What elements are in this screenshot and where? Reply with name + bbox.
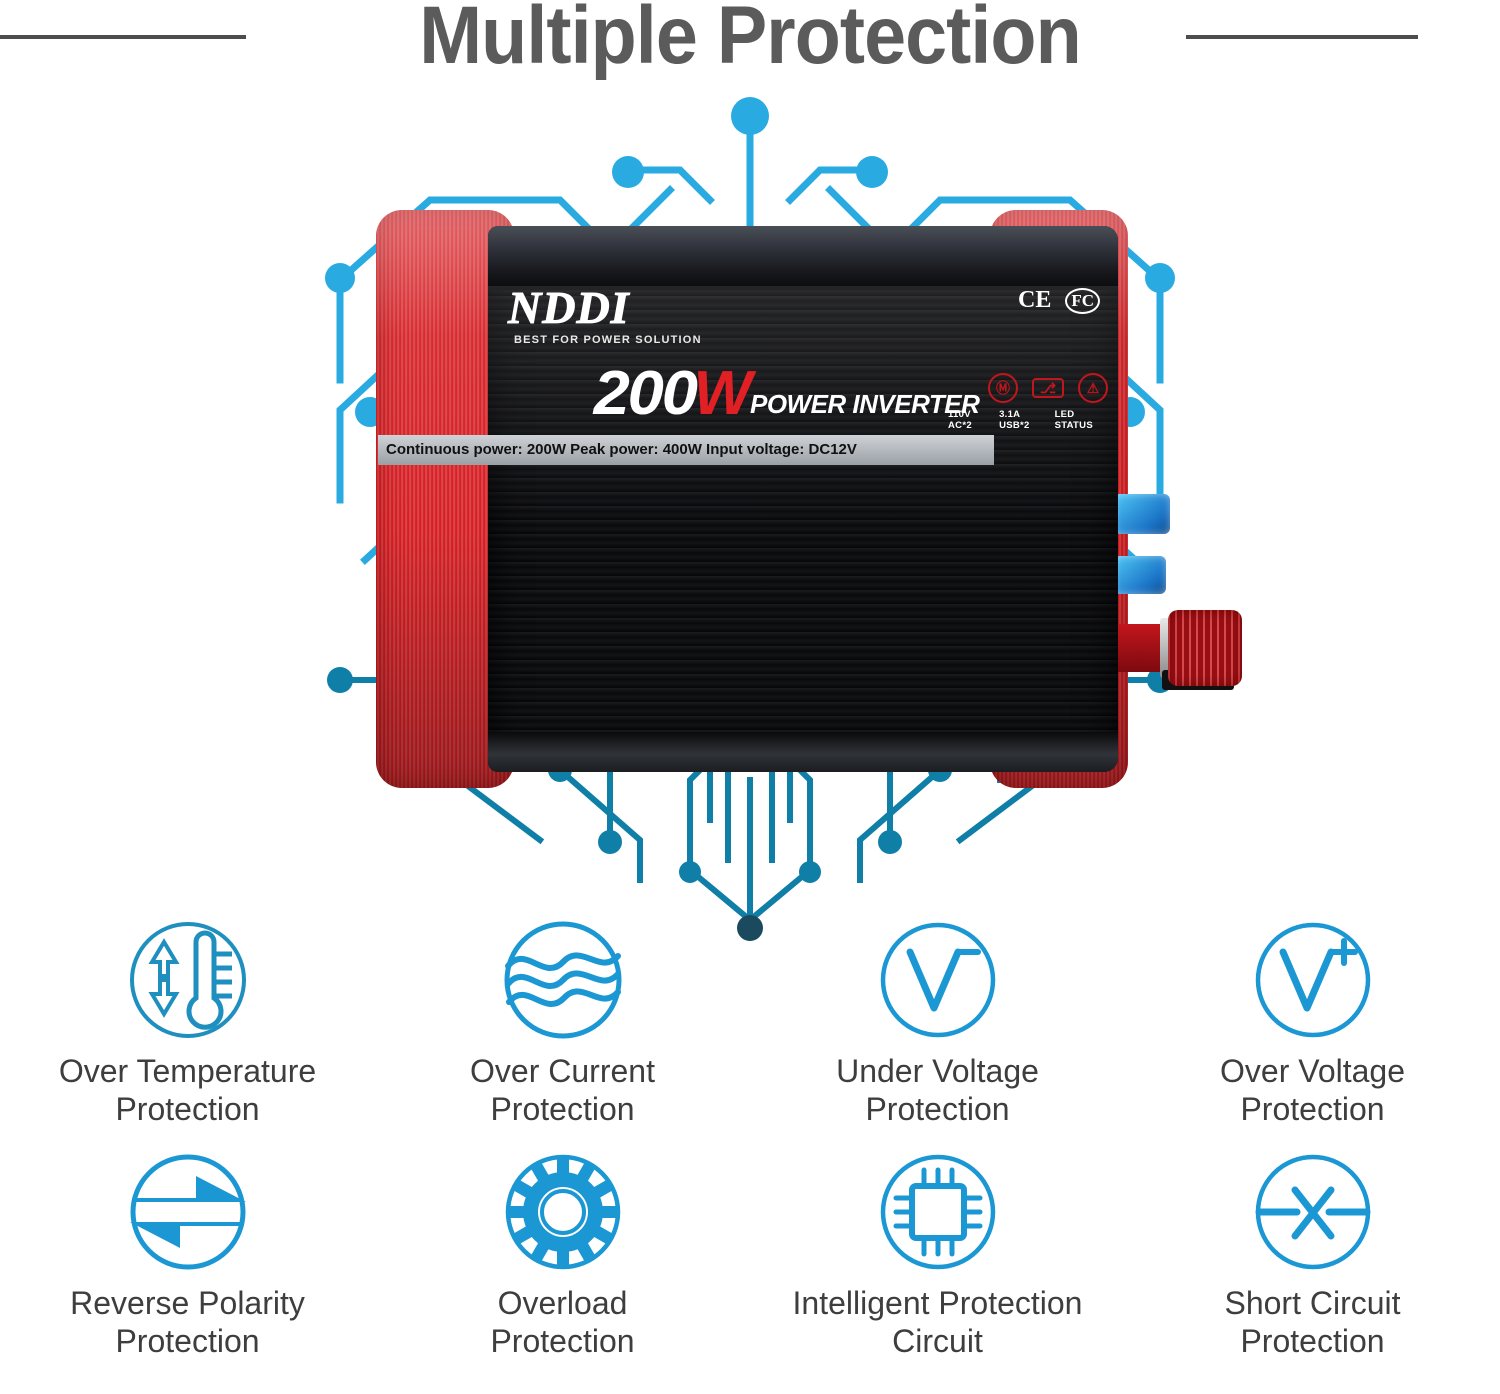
product-hero: NDDI BEST FOR POWER SOLUTION CE FC 200 W… bbox=[0, 80, 1500, 920]
chip-icon bbox=[874, 1150, 1002, 1278]
certification-marks: CE FC bbox=[1018, 287, 1100, 314]
voltage-plus-icon bbox=[1249, 918, 1377, 1046]
feature-over-voltage: Over VoltageProtection bbox=[1125, 918, 1500, 1150]
feature-intelligent-protection: Intelligent ProtectionCircuit bbox=[750, 1150, 1125, 1382]
blue-terminal-upper bbox=[1114, 494, 1170, 534]
feature-short-circuit: Short CircuitProtection bbox=[1125, 1150, 1500, 1382]
body-top-bevel bbox=[488, 226, 1118, 290]
wattage-unit: W bbox=[693, 365, 750, 423]
wave-icon bbox=[499, 918, 627, 1046]
feature-over-current: Over CurrentProtection bbox=[375, 918, 750, 1150]
feature-label: Over VoltageProtection bbox=[1220, 1052, 1405, 1128]
brand-block: NDDI BEST FOR POWER SOLUTION bbox=[508, 285, 708, 346]
usb-icon-label: 3.1A USB*2 bbox=[999, 409, 1046, 431]
blue-terminal-lower bbox=[1114, 556, 1166, 594]
feature-under-voltage: Under VoltageProtection bbox=[750, 918, 1125, 1150]
post-shaft bbox=[1110, 624, 1166, 672]
thermometer-icon bbox=[124, 918, 252, 1046]
terminal-block bbox=[1110, 490, 1300, 720]
wattage-headline: 200 W POWER INVERTER bbox=[596, 365, 979, 423]
feature-label: Under VoltageProtection bbox=[836, 1052, 1039, 1128]
brand-tagline: BEST FOR POWER SOLUTION bbox=[514, 334, 702, 346]
feature-label: Reverse PolarityProtection bbox=[70, 1284, 305, 1360]
feature-label: Short CircuitProtection bbox=[1224, 1284, 1400, 1360]
port-icon-group: Ⓜ ⎇ ⚠ 110V AC*2 3.1A USB*2 LED STATUS bbox=[948, 373, 1108, 431]
led-status-icon-label: LED STATUS bbox=[1055, 409, 1108, 431]
brand-tagline-row: BEST FOR POWER SOLUTION bbox=[508, 334, 708, 346]
feature-label: Over TemperatureProtection bbox=[59, 1052, 316, 1128]
feature-grid: Over TemperatureProtection Over CurrentP… bbox=[0, 918, 1500, 1394]
feature-label: Over CurrentProtection bbox=[470, 1052, 655, 1128]
wattage-number: 200 bbox=[594, 365, 696, 423]
dc-terminal-post bbox=[1110, 606, 1260, 690]
page-title: Multiple Protection bbox=[60, 0, 1440, 84]
product-image: NDDI BEST FOR POWER SOLUTION CE FC 200 W… bbox=[368, 210, 1168, 790]
body-bottom-bevel bbox=[488, 732, 1118, 772]
gear-icon bbox=[499, 1150, 627, 1278]
post-knob bbox=[1168, 610, 1242, 686]
outlet-icon-label: 110V AC*2 bbox=[948, 409, 991, 431]
feature-overload: OverloadProtection bbox=[375, 1150, 750, 1382]
short-circuit-icon bbox=[1249, 1150, 1377, 1278]
outlet-icon: Ⓜ bbox=[988, 373, 1018, 403]
product-type-label: POWER INVERTER bbox=[750, 388, 979, 423]
page-header: Multiple Protection bbox=[0, 0, 1500, 85]
specs-strip: Continuous power: 200W Peak power: 400W … bbox=[378, 435, 994, 465]
brand-name: NDDI bbox=[508, 285, 708, 331]
product-label: NDDI BEST FOR POWER SOLUTION CE FC 200 W… bbox=[496, 285, 1110, 465]
feature-label: OverloadProtection bbox=[490, 1284, 634, 1360]
fcc-mark-icon: FC bbox=[1065, 288, 1100, 314]
reverse-arrows-icon bbox=[124, 1150, 252, 1278]
feature-over-temperature: Over TemperatureProtection bbox=[0, 918, 375, 1150]
feature-reverse-polarity: Reverse PolarityProtection bbox=[0, 1150, 375, 1382]
led-status-icon: ⚠ bbox=[1078, 373, 1108, 403]
usb-icon: ⎇ bbox=[1032, 378, 1064, 398]
feature-label: Intelligent ProtectionCircuit bbox=[793, 1284, 1083, 1360]
voltage-minus-icon bbox=[874, 918, 1002, 1046]
ce-mark-icon: CE bbox=[1018, 287, 1051, 314]
